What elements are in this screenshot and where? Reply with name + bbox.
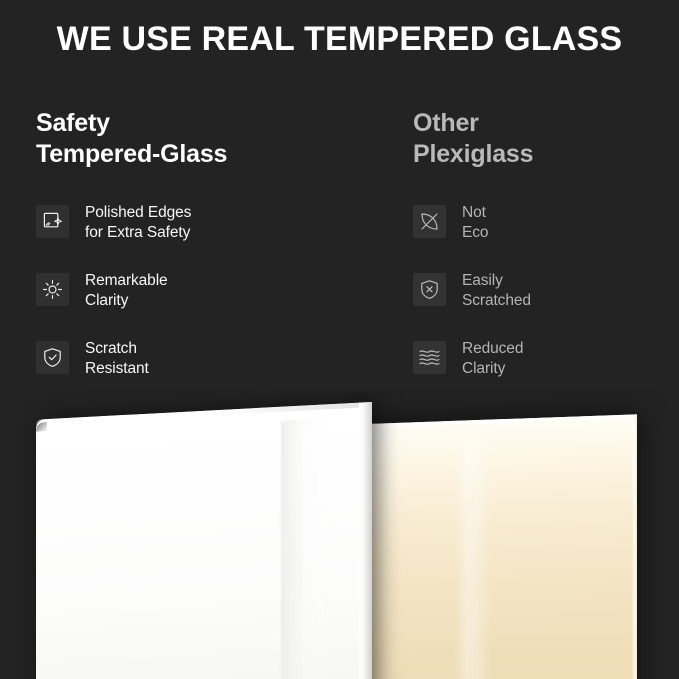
shield-check-icon	[36, 341, 69, 374]
feature-row: Not Eco	[413, 202, 679, 270]
feature-label: Scratch Resistant	[85, 338, 149, 379]
glass-polished-right-edge	[359, 402, 372, 679]
feature-row: Remarkable Clarity	[36, 270, 366, 338]
wavy-distortion-lines-icon	[413, 341, 446, 374]
plexi-reflection	[455, 442, 491, 679]
comparison-infographic: WE USE REAL TEMPERED GLASS Safety Temper…	[0, 0, 679, 679]
feature-label: Easily Scratched	[462, 270, 531, 311]
feature-label: Reduced Clarity	[462, 338, 523, 379]
column-plexiglass: Other Plexiglass Not Eco	[413, 108, 679, 406]
feature-label: Not Eco	[462, 202, 488, 243]
feature-row: Easily Scratched	[413, 270, 679, 338]
clear-tempered-glass-sheet	[36, 402, 372, 679]
feature-list-plexiglass: Not Eco Easily Scratched	[413, 202, 679, 406]
feature-label: Remarkable Clarity	[85, 270, 168, 311]
feature-row: Polished Edges for Extra Safety	[36, 202, 366, 270]
shield-x-icon	[413, 273, 446, 306]
sun-brightness-icon	[36, 273, 69, 306]
plexi-top-edge	[367, 414, 637, 428]
leaf-crossed-out-icon	[413, 205, 446, 238]
column-tempered-glass: Safety Tempered-Glass Polished Edges for…	[36, 108, 366, 406]
glass-panels-illustration	[0, 390, 679, 679]
plexi-right-edge	[632, 414, 637, 679]
yellowed-plexiglass-sheet	[367, 414, 637, 679]
feature-label: Polished Edges for Extra Safety	[85, 202, 191, 243]
column-title-tempered-glass: Safety Tempered-Glass	[36, 108, 366, 170]
feature-list-tempered-glass: Polished Edges for Extra Safety	[36, 202, 366, 406]
page-title: WE USE REAL TEMPERED GLASS	[0, 20, 679, 59]
column-title-plexiglass: Other Plexiglass	[413, 108, 679, 170]
polished-edge-sparkle-icon	[36, 205, 69, 238]
